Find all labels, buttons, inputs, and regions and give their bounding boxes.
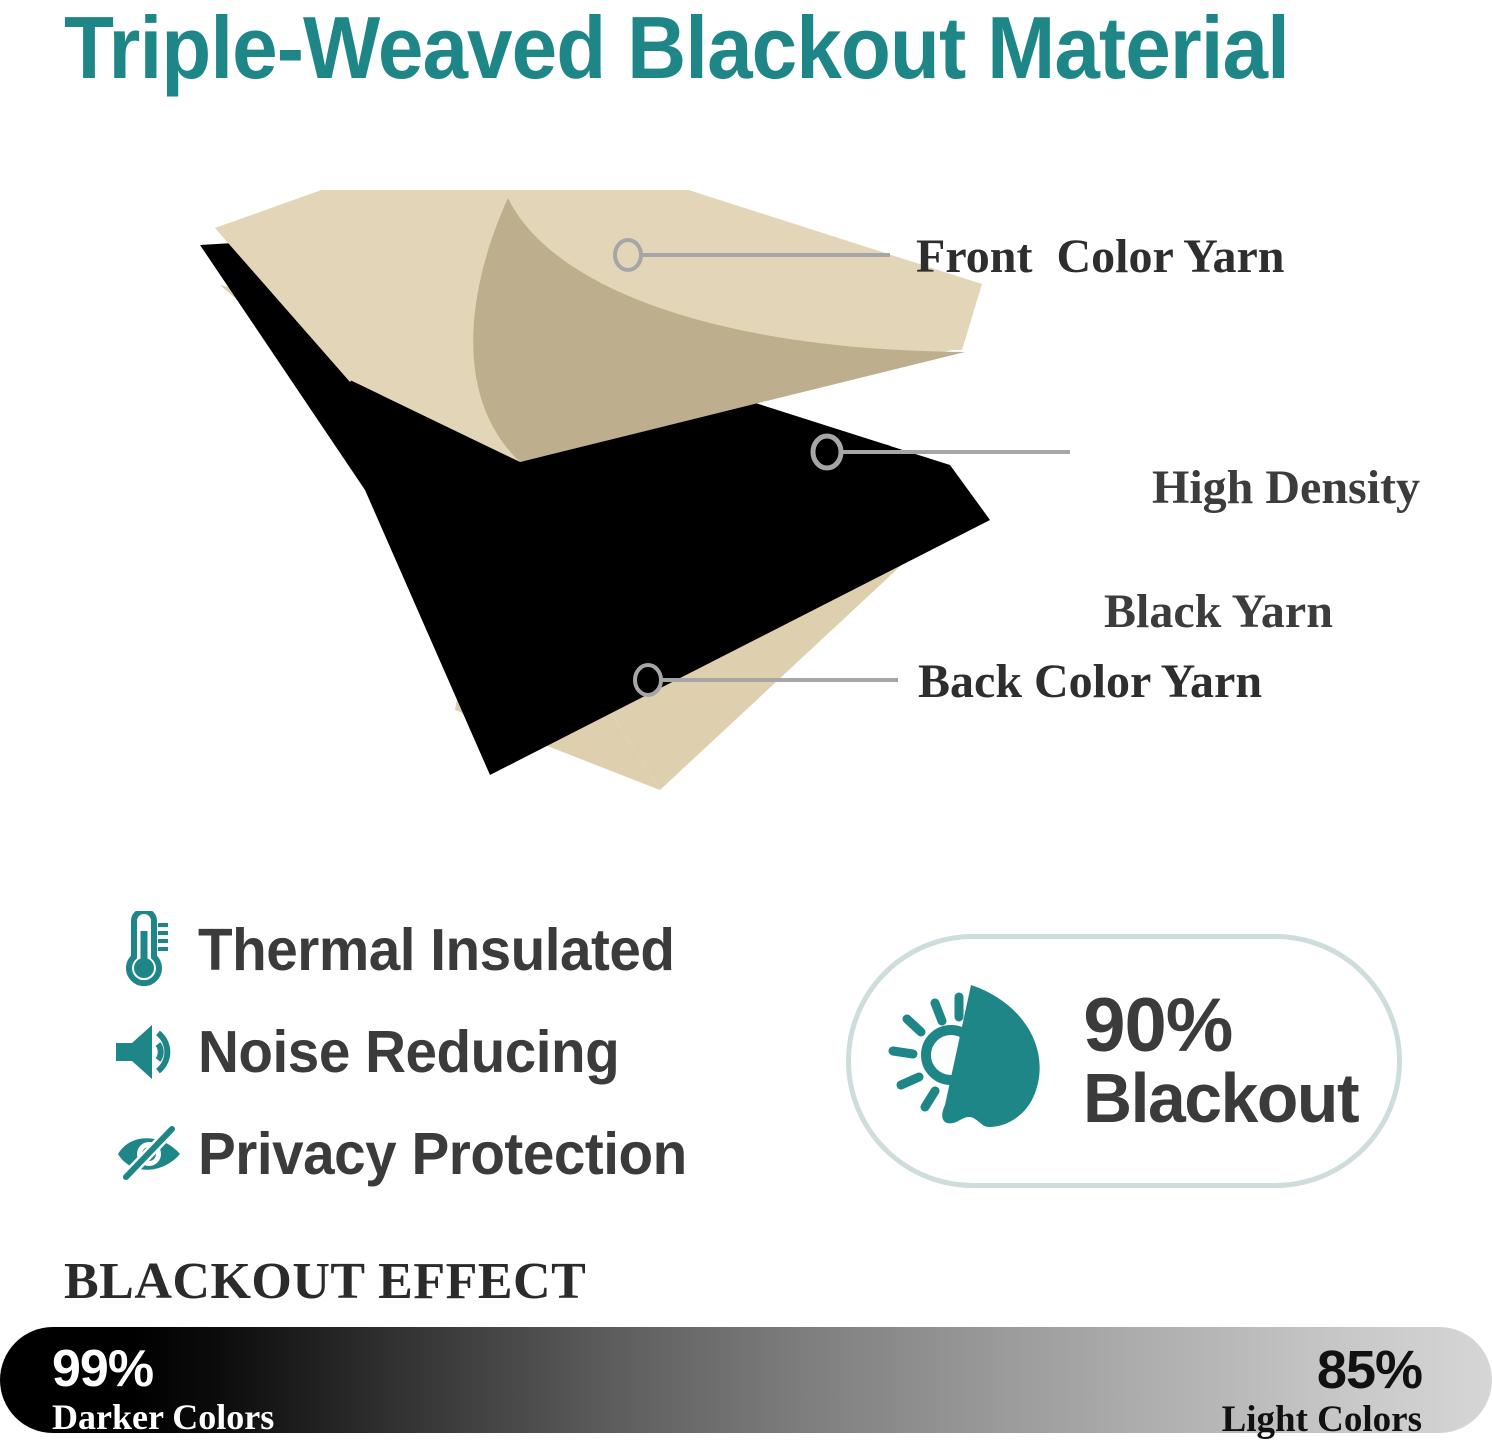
blackout-effect-gradient-bar: 99% Darker Colors 85% Light Colors: [0, 1327, 1492, 1433]
feature-label-privacy-protection: Privacy Protection: [198, 1121, 687, 1187]
callout-line-2: Black Yarn: [1104, 581, 1420, 643]
light-colors-label: Light Colors: [1222, 1401, 1422, 1438]
blackout-percentage-badge: 90% Blackout: [846, 934, 1402, 1188]
sun-blocked-by-curtain-icon: [885, 981, 1057, 1142]
page-title: Triple-Weaved Blackout Material: [64, 0, 1366, 98]
feature-item-noise-reducing: Noise Reducing: [112, 1004, 812, 1099]
callout-line-1: High Density: [1152, 461, 1420, 514]
infographic-page: Triple-Weaved Blackout Material: [0, 0, 1492, 1441]
thermometer-icon: [112, 911, 198, 989]
badge-percent: 90%: [1083, 989, 1367, 1063]
callout-label-front-color-yarn: Front Color Yarn: [916, 228, 1284, 286]
eye-off-icon: [112, 1123, 198, 1185]
gradient-bar-right-value: 85% Light Colors: [1222, 1343, 1422, 1438]
darker-colors-percent: 99%: [52, 1343, 274, 1395]
badge-word: Blackout: [1083, 1064, 1358, 1133]
callout-label-high-density-black-yarn: High Density Black Yarn: [1104, 395, 1420, 767]
badge-text-group: 90% Blackout: [1083, 989, 1367, 1132]
feature-list: Thermal Insulated Noise Reducing: [112, 902, 812, 1208]
light-colors-percent: 85%: [1222, 1343, 1422, 1397]
darker-colors-label: Darker Colors: [52, 1399, 274, 1435]
speaker-volume-icon: [112, 1019, 198, 1085]
callout-label-back-color-yarn: Back Color Yarn: [918, 653, 1262, 711]
feature-label-thermal-insulated: Thermal Insulated: [198, 917, 675, 983]
feature-label-noise-reducing: Noise Reducing: [198, 1019, 619, 1085]
feature-item-privacy-protection: Privacy Protection: [112, 1106, 812, 1201]
blackout-effect-heading: BLACKOUT EFFECT: [64, 1253, 586, 1311]
feature-item-thermal-insulated: Thermal Insulated: [112, 902, 812, 997]
gradient-bar-left-value: 99% Darker Colors: [52, 1343, 274, 1435]
